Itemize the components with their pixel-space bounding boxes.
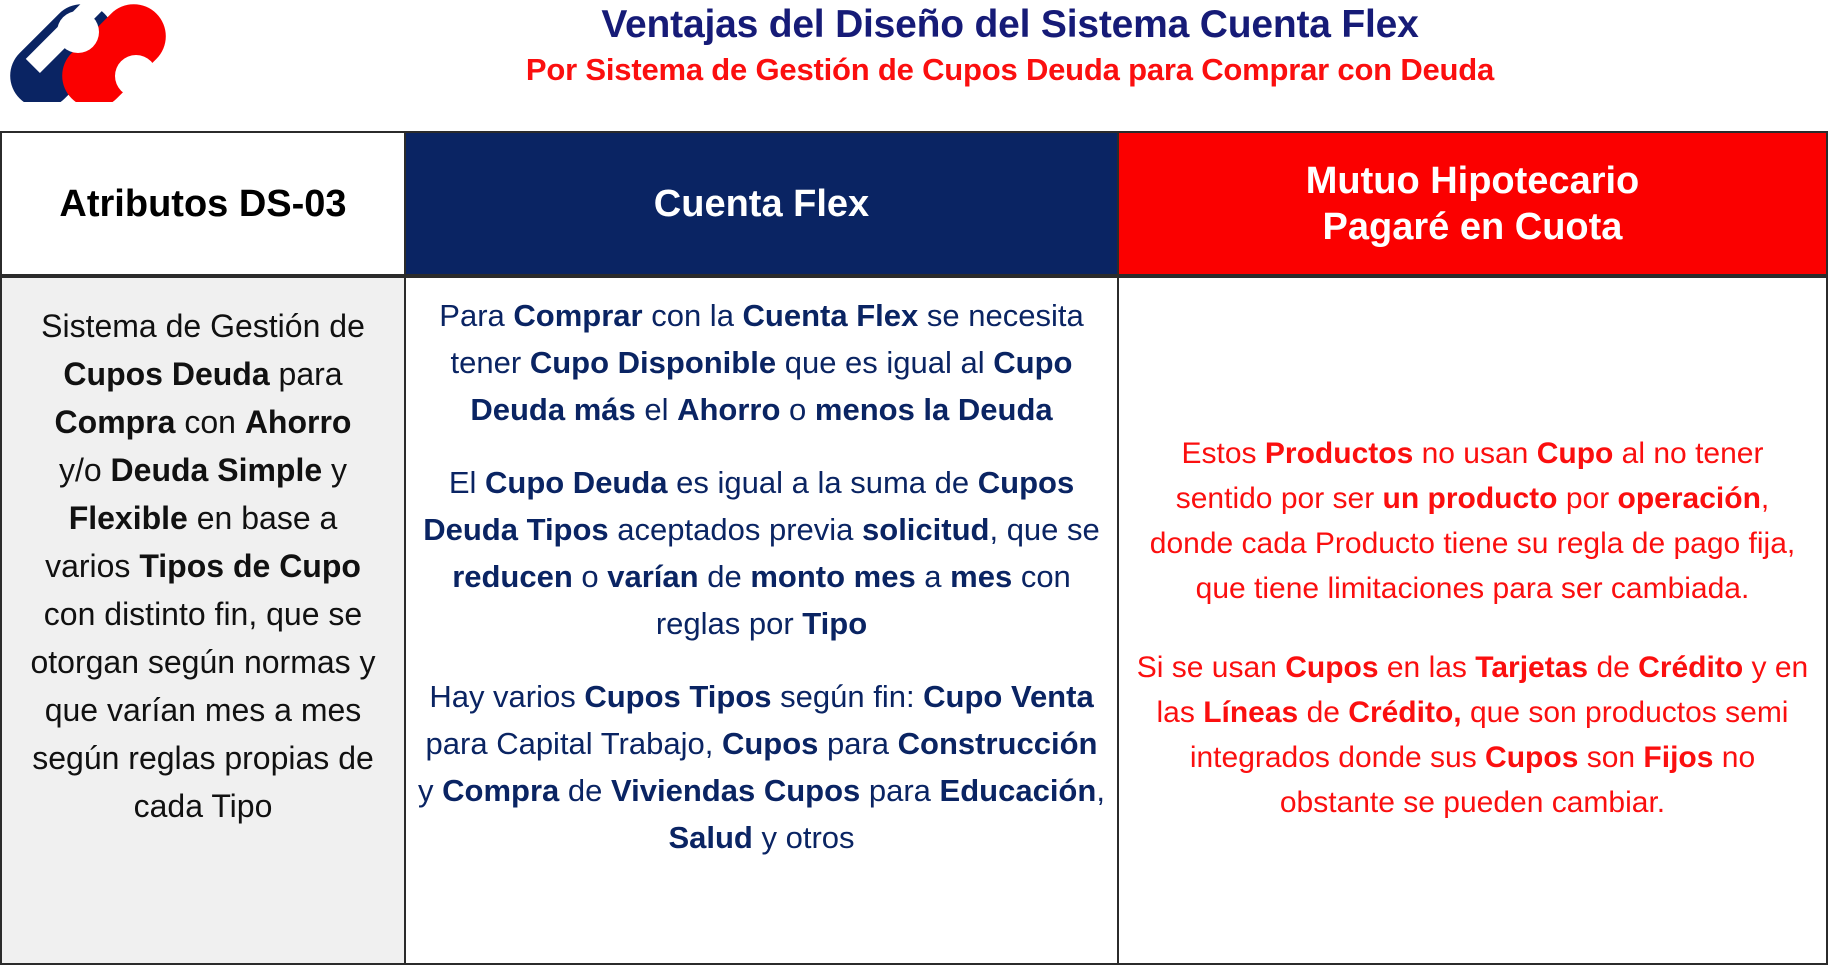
header-cell-mutuo-hipotecario: Mutuo Hipotecario Pagaré en Cuota	[1117, 131, 1828, 276]
header-label-mutuo-hipotecario: Mutuo Hipotecario Pagaré en Cuota	[1306, 158, 1640, 250]
cuenta-flex-paragraph-1: Para Comprar con la Cuenta Flex se neces…	[416, 292, 1107, 433]
cuenta-flex-paragraph-3: Hay varios Cupos Tipos según fin: Cupo V…	[416, 673, 1107, 861]
table-header-row: Atributos DS-03 Cuenta Flex Mutuo Hipote…	[0, 131, 1828, 276]
page-title: Ventajas del Diseño del Sistema Cuenta F…	[230, 2, 1790, 48]
header-label-mutuo-line1: Mutuo Hipotecario	[1306, 158, 1640, 204]
header-label-mutuo-line2: Pagaré en Cuota	[1306, 204, 1640, 250]
header-cell-attributes: Atributos DS-03	[0, 131, 406, 276]
slide-page: Ventajas del Diseño del Sistema Cuenta F…	[0, 0, 1828, 970]
mutuo-paragraph-2: Si se usan Cupos en las Tarjetas de Créd…	[1133, 645, 1812, 825]
body-cell-mutuo-hipotecario: Estos Productos no usan Cupo al no tener…	[1117, 276, 1828, 965]
cuenta-flex-paragraph-2: El Cupo Deuda es igual a la suma de Cupo…	[416, 459, 1107, 647]
attributes-description: Sistema de Gestión de Cupos Deuda para C…	[30, 302, 376, 830]
title-block: Ventajas del Diseño del Sistema Cuenta F…	[230, 0, 1790, 89]
body-cell-attributes: Sistema de Gestión de Cupos Deuda para C…	[0, 276, 406, 965]
page-header: Ventajas del Diseño del Sistema Cuenta F…	[0, 0, 1828, 112]
bank-logo	[8, 2, 208, 102]
comparison-table: Atributos DS-03 Cuenta Flex Mutuo Hipote…	[0, 131, 1828, 965]
table-body-row: Sistema de Gestión de Cupos Deuda para C…	[0, 276, 1828, 965]
header-label-attributes: Atributos DS-03	[59, 182, 346, 226]
bank-logo-icon	[8, 2, 208, 102]
body-cell-cuenta-flex: Para Comprar con la Cuenta Flex se neces…	[404, 276, 1119, 965]
header-label-cuenta-flex: Cuenta Flex	[654, 181, 869, 227]
page-subtitle: Por Sistema de Gestión de Cupos Deuda pa…	[230, 51, 1790, 89]
mutuo-paragraph-1: Estos Productos no usan Cupo al no tener…	[1133, 431, 1812, 611]
header-cell-cuenta-flex: Cuenta Flex	[404, 131, 1119, 276]
